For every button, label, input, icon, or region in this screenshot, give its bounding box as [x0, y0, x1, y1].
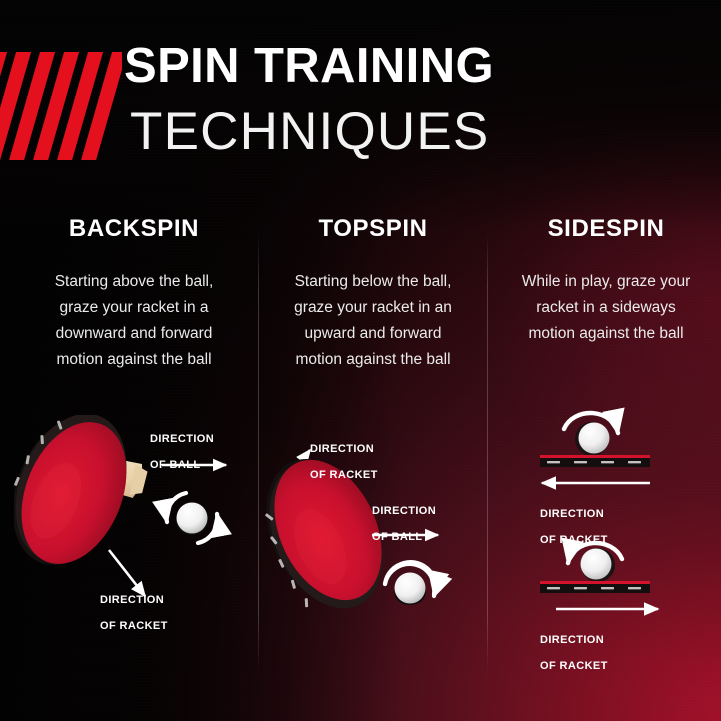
column-heading-backspin: BACKSPIN: [14, 215, 254, 243]
label-line-1: DIRECTION: [540, 508, 655, 521]
label-line-1: DIRECTION: [372, 505, 472, 518]
spin-training-infographic: SPIN TRAINING TECHNIQUES BACKSPIN Starti…: [0, 0, 721, 721]
header: SPIN TRAINING TECHNIQUES: [0, 0, 721, 190]
diagram-sidespin-left: DIRECTION OF RACKET: [522, 407, 712, 527]
label-line-1: DIRECTION: [310, 443, 420, 456]
column-body-sidespin: While in play, graze your racket in a si…: [520, 269, 692, 347]
ball-sidespin-right: [581, 548, 616, 582]
column-divider-2: [487, 233, 488, 673]
diagram-backspin: DIRECTION OF BALL DIRECTION OF RACKET: [14, 415, 254, 645]
column-backspin: BACKSPIN Starting above the ball, graze …: [14, 215, 254, 373]
column-divider-1: [258, 233, 259, 673]
columns-container: BACKSPIN Starting above the ball, graze …: [0, 215, 721, 685]
racket-strip-sidespin-right: [540, 581, 650, 593]
ball-sidespin-left: [575, 422, 610, 456]
title-block: SPIN TRAINING TECHNIQUES: [124, 42, 684, 158]
spin-indicator-backspin: [167, 493, 218, 543]
page-title: SPIN TRAINING: [124, 42, 684, 91]
column-body-backspin: Starting above the ball, graze your rack…: [41, 269, 227, 373]
label-line-1: DIRECTION: [150, 433, 242, 446]
column-heading-topspin: TOPSPIN: [262, 215, 484, 243]
label-line-2: OF BALL: [150, 459, 242, 472]
label-direction-of-racket-sidespin-right: DIRECTION OF RACKET: [540, 621, 655, 686]
column-heading-sidespin: SIDESPIN: [492, 215, 720, 243]
label-line-1: DIRECTION: [100, 594, 210, 607]
label-direction-of-ball-backspin: DIRECTION OF BALL: [150, 420, 242, 485]
label-direction-of-racket-topspin: DIRECTION OF RACKET: [310, 430, 420, 495]
label-line-1: DIRECTION: [540, 634, 655, 647]
label-direction-of-ball-topspin: DIRECTION OF BALL: [372, 492, 472, 557]
column-topspin: TOPSPIN Starting below the ball, graze y…: [262, 215, 484, 373]
spin-indicator-topspin: [385, 562, 436, 605]
label-line-2: OF RACKET: [100, 620, 210, 633]
diagram-topspin: DIRECTION OF RACKET DIRECTION OF BALL: [262, 430, 484, 645]
label-line-2: OF BALL: [372, 531, 472, 544]
diagonal-stripes-decoration: [0, 52, 122, 160]
racket-strip-sidespin-left: [540, 455, 650, 467]
diagram-sidespin-right: DIRECTION OF RACKET: [522, 533, 712, 653]
label-direction-of-racket-backspin: DIRECTION OF RACKET: [100, 581, 210, 646]
column-body-topspin: Starting below the ball, graze your rack…: [280, 269, 466, 373]
column-sidespin: SIDESPIN While in play, graze your racke…: [492, 215, 720, 347]
label-line-2: OF RACKET: [310, 469, 420, 482]
page-subtitle: TECHNIQUES: [130, 105, 684, 158]
label-line-2: OF RACKET: [540, 660, 655, 673]
